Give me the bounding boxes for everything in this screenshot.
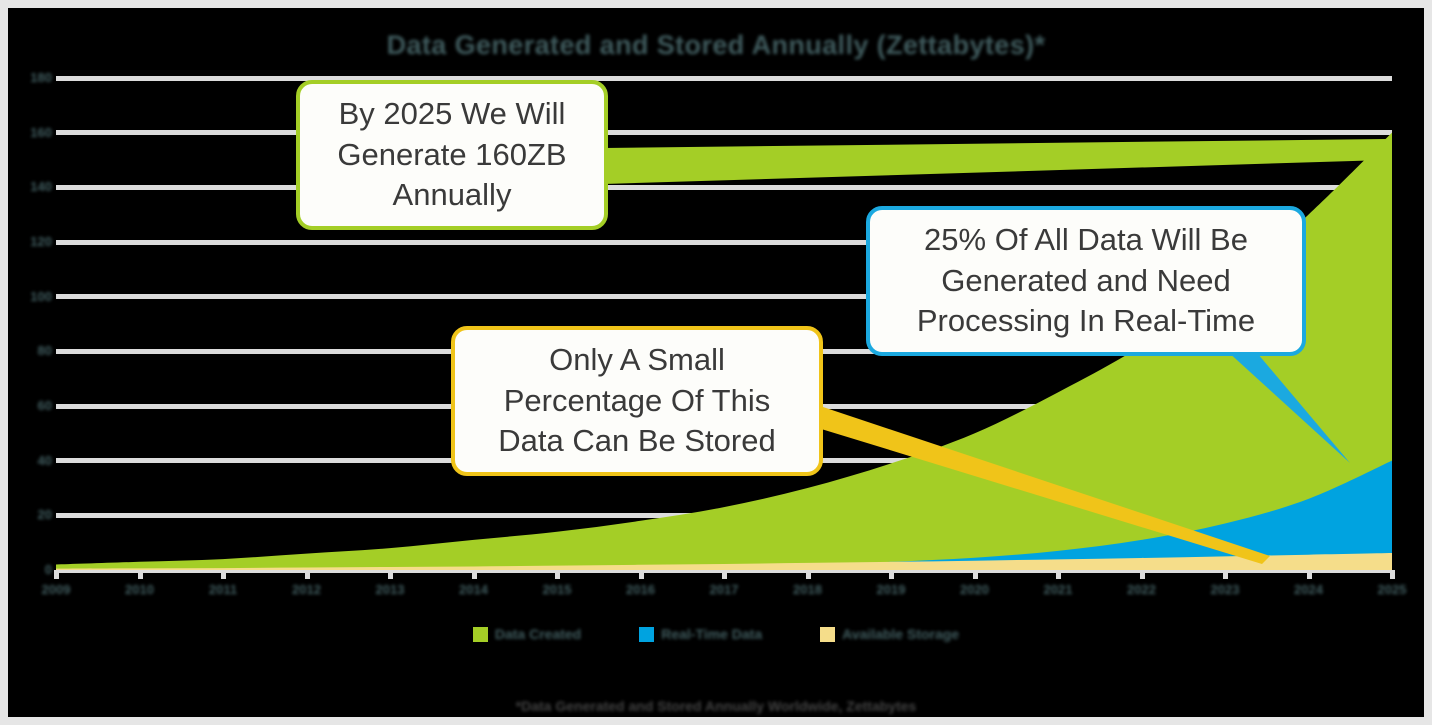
y-axis-tick-label: 140 — [12, 179, 52, 194]
x-axis: 2009201020112012201320142015201620172018… — [56, 570, 1392, 604]
x-axis-tick-label: 2019 — [861, 582, 921, 597]
x-axis-tick-mark — [973, 570, 978, 579]
legend-swatch-icon — [820, 627, 835, 642]
legend-item-label: Data Created — [495, 626, 581, 642]
y-axis-tick-label: 120 — [12, 234, 52, 249]
legend-item-label: Available Storage — [842, 626, 959, 642]
y-axis: 180160140120100806040200 — [8, 78, 52, 570]
x-axis-tick-mark — [1307, 570, 1312, 579]
x-axis-tick-label: 2025 — [1362, 582, 1422, 597]
legend-swatch-icon — [639, 627, 654, 642]
x-axis-tick-label: 2011 — [193, 582, 253, 597]
legend-item[interactable]: Available Storage — [820, 626, 959, 642]
x-axis-tick-label: 2024 — [1279, 582, 1339, 597]
x-axis-tick-label: 2021 — [1028, 582, 1088, 597]
y-axis-tick-label: 160 — [12, 125, 52, 140]
callout-blue[interactable]: 25% Of All Data Will Be Generated and Ne… — [866, 206, 1306, 356]
y-axis-tick-label: 80 — [12, 343, 52, 358]
x-axis-tick-label: 2016 — [611, 582, 671, 597]
legend-item[interactable]: Data Created — [473, 626, 581, 642]
x-axis-tick-mark — [806, 570, 811, 579]
y-axis-tick-label: 100 — [12, 289, 52, 304]
x-axis-tick-mark — [138, 570, 143, 579]
x-axis-tick-label: 2013 — [360, 582, 420, 597]
x-axis-tick-mark — [388, 570, 393, 579]
legend-swatch-icon — [473, 627, 488, 642]
x-axis-tick-label: 2015 — [527, 582, 587, 597]
y-axis-tick-label: 0 — [12, 562, 52, 577]
x-axis-tick-label: 2017 — [694, 582, 754, 597]
y-axis-tick-label: 60 — [12, 398, 52, 413]
x-axis-tick-mark — [221, 570, 226, 579]
x-axis-tick-label: 2009 — [26, 582, 86, 597]
callout-gold[interactable]: Only A Small Percentage Of This Data Can… — [451, 326, 823, 476]
slide-canvas: Data Generated and Stored Annually (Zett… — [8, 8, 1424, 717]
x-axis-tick-mark — [555, 570, 560, 579]
x-axis-tick-mark — [472, 570, 477, 579]
x-axis-tick-mark — [54, 570, 59, 579]
x-axis-tick-mark — [639, 570, 644, 579]
callout-green[interactable]: By 2025 We Will Generate 160ZB Annually — [296, 80, 608, 230]
x-axis-tick-mark — [1140, 570, 1145, 579]
y-axis-tick-label: 20 — [12, 507, 52, 522]
x-axis-tick-mark — [889, 570, 894, 579]
x-axis-tick-mark — [1390, 570, 1395, 579]
chart-legend: Data CreatedReal-Time DataAvailable Stor… — [8, 626, 1424, 642]
x-axis-tick-label: 2018 — [778, 582, 838, 597]
x-axis-tick-label: 2014 — [444, 582, 504, 597]
x-axis-tick-mark — [1223, 570, 1228, 579]
x-axis-tick-label: 2012 — [277, 582, 337, 597]
x-axis-tick-mark — [305, 570, 310, 579]
x-axis-tick-label: 2020 — [945, 582, 1005, 597]
x-axis-tick-mark — [1056, 570, 1061, 579]
legend-item-label: Real-Time Data — [661, 626, 762, 642]
legend-item[interactable]: Real-Time Data — [639, 626, 762, 642]
chart-title: Data Generated and Stored Annually (Zett… — [8, 30, 1424, 61]
x-axis-tick-mark — [722, 570, 727, 579]
x-axis-tick-label: 2022 — [1112, 582, 1172, 597]
y-axis-tick-label: 40 — [12, 453, 52, 468]
x-axis-tick-label: 2023 — [1195, 582, 1255, 597]
chart-footnote: *Data Generated and Stored Annually Worl… — [8, 698, 1424, 714]
y-axis-tick-label: 180 — [12, 70, 52, 85]
x-axis-tick-label: 2010 — [110, 582, 170, 597]
